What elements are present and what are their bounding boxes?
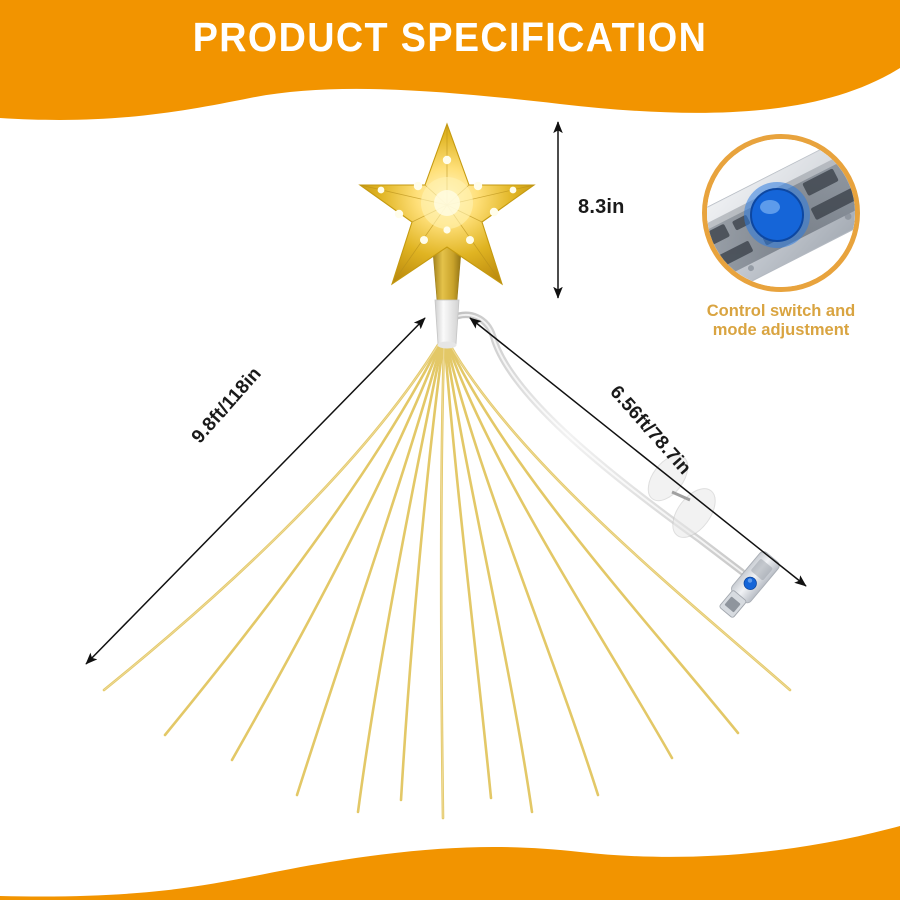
callout-caption-line2: mode adjustment <box>697 321 865 340</box>
star-tree-topper <box>360 124 534 303</box>
callout-circle-frame <box>702 134 860 292</box>
usb-power-cable <box>452 315 742 572</box>
control-switch-callout: Control switch and mode adjustment <box>697 134 865 341</box>
callout-caption: Control switch and mode adjustment <box>697 302 865 341</box>
dimension-label-star-height: 8.3in <box>578 196 625 219</box>
strand-hub <box>435 300 459 349</box>
product-specification-page: PRODUCT SPECIFICATION <box>0 0 900 900</box>
callout-caption-line1: Control switch and <box>697 302 865 321</box>
blue-button-icon <box>751 189 803 241</box>
control-box-icon <box>702 134 860 292</box>
